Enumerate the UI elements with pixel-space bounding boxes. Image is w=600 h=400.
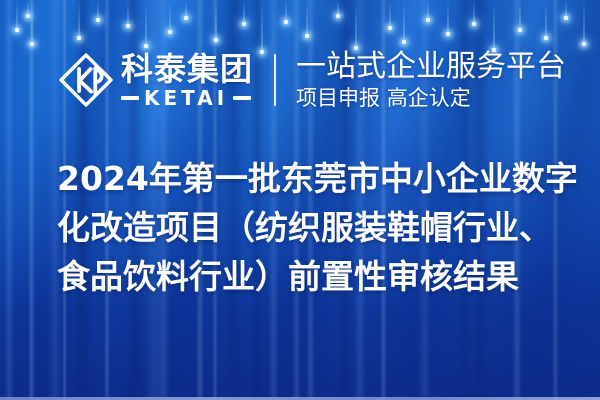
particle-dot [582,42,586,46]
particle-dot [15,28,19,32]
particle-trail [356,0,357,46]
falling-light-particle-icon [167,0,173,34]
particle-dot [402,40,406,44]
particle-trail [338,0,339,14]
particle-trail [566,0,567,16]
particle-dot [305,34,309,38]
particle-trail [584,0,585,42]
tagline-sub: 项目申报 高企认定 [296,86,566,111]
particle-trail [286,0,287,20]
falling-light-particle-icon [581,0,587,46]
falling-light-particle-icon [491,0,497,52]
particle-dot [426,18,430,22]
falling-light-particle-icon [241,0,247,26]
particle-dot [30,42,34,46]
particle-trail [244,0,245,22]
particle-trail [186,0,187,16]
page-title-line-2: 化改造项目（纺织服装鞋帽行业、 [57,203,577,252]
falling-light-particle-icon [563,0,569,20]
particle-trail [474,0,475,22]
banner-header-row: 科泰集团 KETAI 一站式企业服务平台 项目申报 高企认定 [0,48,600,112]
falling-light-particle-icon [259,0,265,54]
falling-light-particle-icon [125,0,131,28]
particle-trail [216,0,217,38]
particle-dot [388,26,392,30]
particle-dot [96,18,100,22]
particle-trail [146,0,147,44]
falling-light-particle-icon [14,0,20,32]
falling-light-particle-icon [283,0,289,24]
particle-trail [390,0,391,26]
falling-light-particle-icon [29,0,35,46]
particle-dot [564,16,568,20]
page-title-line-1: 2024年第一批东莞市中小企业数字 [57,154,577,203]
particle-dot [446,32,450,36]
particle-trail [448,0,449,32]
particle-trail [170,0,171,30]
particle-trail [98,0,99,18]
falling-light-particle-icon [401,0,407,44]
falling-light-particle-icon [471,0,477,26]
particle-trail [494,0,495,48]
logo-en-row: KETAI [121,88,253,108]
particle-trail [262,0,263,50]
page-title: 2024年第一批东莞市中小企业数字 化改造项目（纺织服装鞋帽行业、 食品饮料行业… [57,154,577,301]
particle-dot [214,38,218,42]
dash-rule-icon [121,96,139,100]
particle-trail [128,0,129,24]
particle-trail [404,0,405,40]
falling-light-particle-icon [335,0,341,18]
logo-name-cn: 科泰集团 [121,52,253,86]
falling-light-particle-icon [76,0,82,40]
particle-dot [184,16,188,20]
logo-wordmark: 科泰集团 KETAI [121,52,253,108]
falling-light-particle-icon [517,0,523,32]
particle-dot [242,22,246,26]
falling-light-particle-icon [425,0,431,22]
particle-dot [284,20,288,24]
particle-trail [520,0,521,28]
particle-dot [544,36,548,40]
page-title-line-3: 食品饮料行业）前置性审核结果 [57,252,577,301]
particle-dot [336,14,340,18]
particle-trail [32,0,33,42]
falling-light-particle-icon [213,0,219,42]
particle-trail [428,0,429,18]
particle-trail [546,0,547,36]
falling-light-particle-icon [143,0,149,48]
falling-light-particle-icon [387,0,393,30]
dash-rule-icon [233,96,251,100]
particle-dot [126,24,130,28]
tagline-main: 一站式企业服务平台 [296,50,566,83]
particle-dot [77,36,81,40]
falling-light-particle-icon [304,0,310,38]
ketai-diamond-kp-monogram-icon [57,51,115,109]
falling-light-particle-icon [445,0,451,36]
vertical-divider-icon [274,54,276,106]
falling-light-particle-icon [95,0,101,22]
tagline-block: 一站式企业服务平台 项目申报 高企认定 [296,50,566,111]
particle-dot [472,22,476,26]
ketai-logo[interactable]: 科泰集团 KETAI [57,51,253,109]
particle-trail [307,0,308,34]
particle-dot [518,28,522,32]
falling-light-particle-icon [353,0,359,50]
falling-light-particle-icon [543,0,549,40]
particle-trail [17,0,18,28]
falling-light-particle-icon [183,0,189,20]
particle-trail [79,0,80,36]
particle-dot [168,30,172,34]
article-cover-banner: 科泰集团 KETAI 一站式企业服务平台 项目申报 高企认定 2024年第一批东… [0,0,600,400]
logo-name-en: KETAI [144,88,228,108]
